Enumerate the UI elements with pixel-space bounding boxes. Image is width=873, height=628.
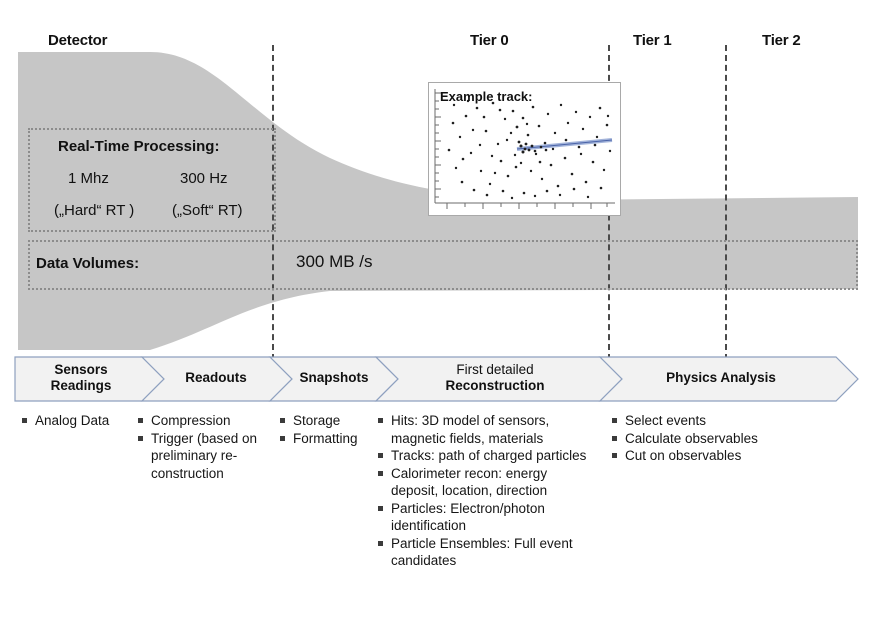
chevron-label-2: Readouts — [156, 370, 276, 386]
diagram-canvas: Detector Tier 0 Tier 1 Tier 2 Real-Time … — [0, 0, 873, 628]
list-item: Particle Ensembles: Full event candidate… — [378, 535, 596, 570]
tier-label-tier0: Tier 0 — [470, 32, 509, 49]
list-item: Compression — [138, 412, 268, 430]
chevron-label-3-line-1: Snapshots — [282, 370, 386, 386]
list-item: Particles: Electron/photon identificatio… — [378, 500, 596, 535]
bullet-list-readouts: Compression Trigger (based on preliminar… — [138, 412, 268, 482]
list-item: Trigger (based on preliminary re-constru… — [138, 430, 268, 483]
rt-kind-hard: („Hard“ RT ) — [54, 202, 134, 219]
list-item: Storage — [280, 412, 380, 430]
tier-label-tier1: Tier 1 — [633, 32, 672, 49]
tier-divider-3 — [725, 45, 727, 360]
chevron-label-1: Sensors Readings — [26, 362, 136, 394]
chevron-label-2-line-1: Readouts — [156, 370, 276, 386]
bullet-column-snapshots: Storage Formatting — [280, 412, 380, 447]
list-item: Hits: 3D model of sensors, magnetic fiel… — [378, 412, 596, 447]
tier-label-tier2: Tier 2 — [762, 32, 801, 49]
data-volumes-value: 300 MB /s — [296, 252, 373, 272]
chevron-label-4-line-1: First detailed — [386, 362, 604, 378]
rt-kind-soft: („Soft“ RT) — [172, 202, 243, 219]
bullet-list-snapshots: Storage Formatting — [280, 412, 380, 447]
chevron-label-4-line-2: Reconstruction — [386, 378, 604, 394]
chevron-label-1-line-2: Readings — [26, 378, 136, 394]
example-track-title: Example track: — [440, 89, 533, 104]
chevron-label-4: First detailed Reconstruction — [386, 362, 604, 394]
chevron-label-5: Physics Analysis — [608, 370, 834, 386]
bullet-column-sensors-readings: Analog Data — [22, 412, 122, 430]
bullet-column-physics-analysis: Select events Calculate observables Cut … — [612, 412, 842, 465]
list-item: Select events — [612, 412, 842, 430]
data-volumes-label: Data Volumes: — [36, 255, 139, 272]
list-item: Calorimeter recon: energy deposit, locat… — [378, 465, 596, 500]
list-item: Calculate observables — [612, 430, 842, 448]
chevron-label-1-line-1: Sensors — [26, 362, 136, 378]
chevron-label-3: Snapshots — [282, 370, 386, 386]
rt-rate-soft: 300 Hz — [180, 170, 228, 187]
bullet-list-sensors-readings: Analog Data — [22, 412, 122, 430]
list-item: Cut on observables — [612, 447, 842, 465]
list-item: Tracks: path of charged particles — [378, 447, 596, 465]
chevron-label-5-line-1: Physics Analysis — [608, 370, 834, 386]
bullet-column-reconstruction: Hits: 3D model of sensors, magnetic fiel… — [378, 412, 596, 570]
bullet-list-reconstruction: Hits: 3D model of sensors, magnetic fiel… — [378, 412, 596, 570]
bullet-list-physics-analysis: Select events Calculate observables Cut … — [612, 412, 842, 465]
tier-label-detector: Detector — [48, 32, 107, 49]
list-item: Analog Data — [22, 412, 122, 430]
real-time-processing-title: Real-Time Processing: — [58, 138, 219, 155]
list-item: Formatting — [280, 430, 380, 448]
bullet-column-readouts: Compression Trigger (based on preliminar… — [138, 412, 268, 482]
data-volumes-box — [28, 240, 858, 290]
rt-rate-hard: 1 Mhz — [68, 170, 109, 187]
